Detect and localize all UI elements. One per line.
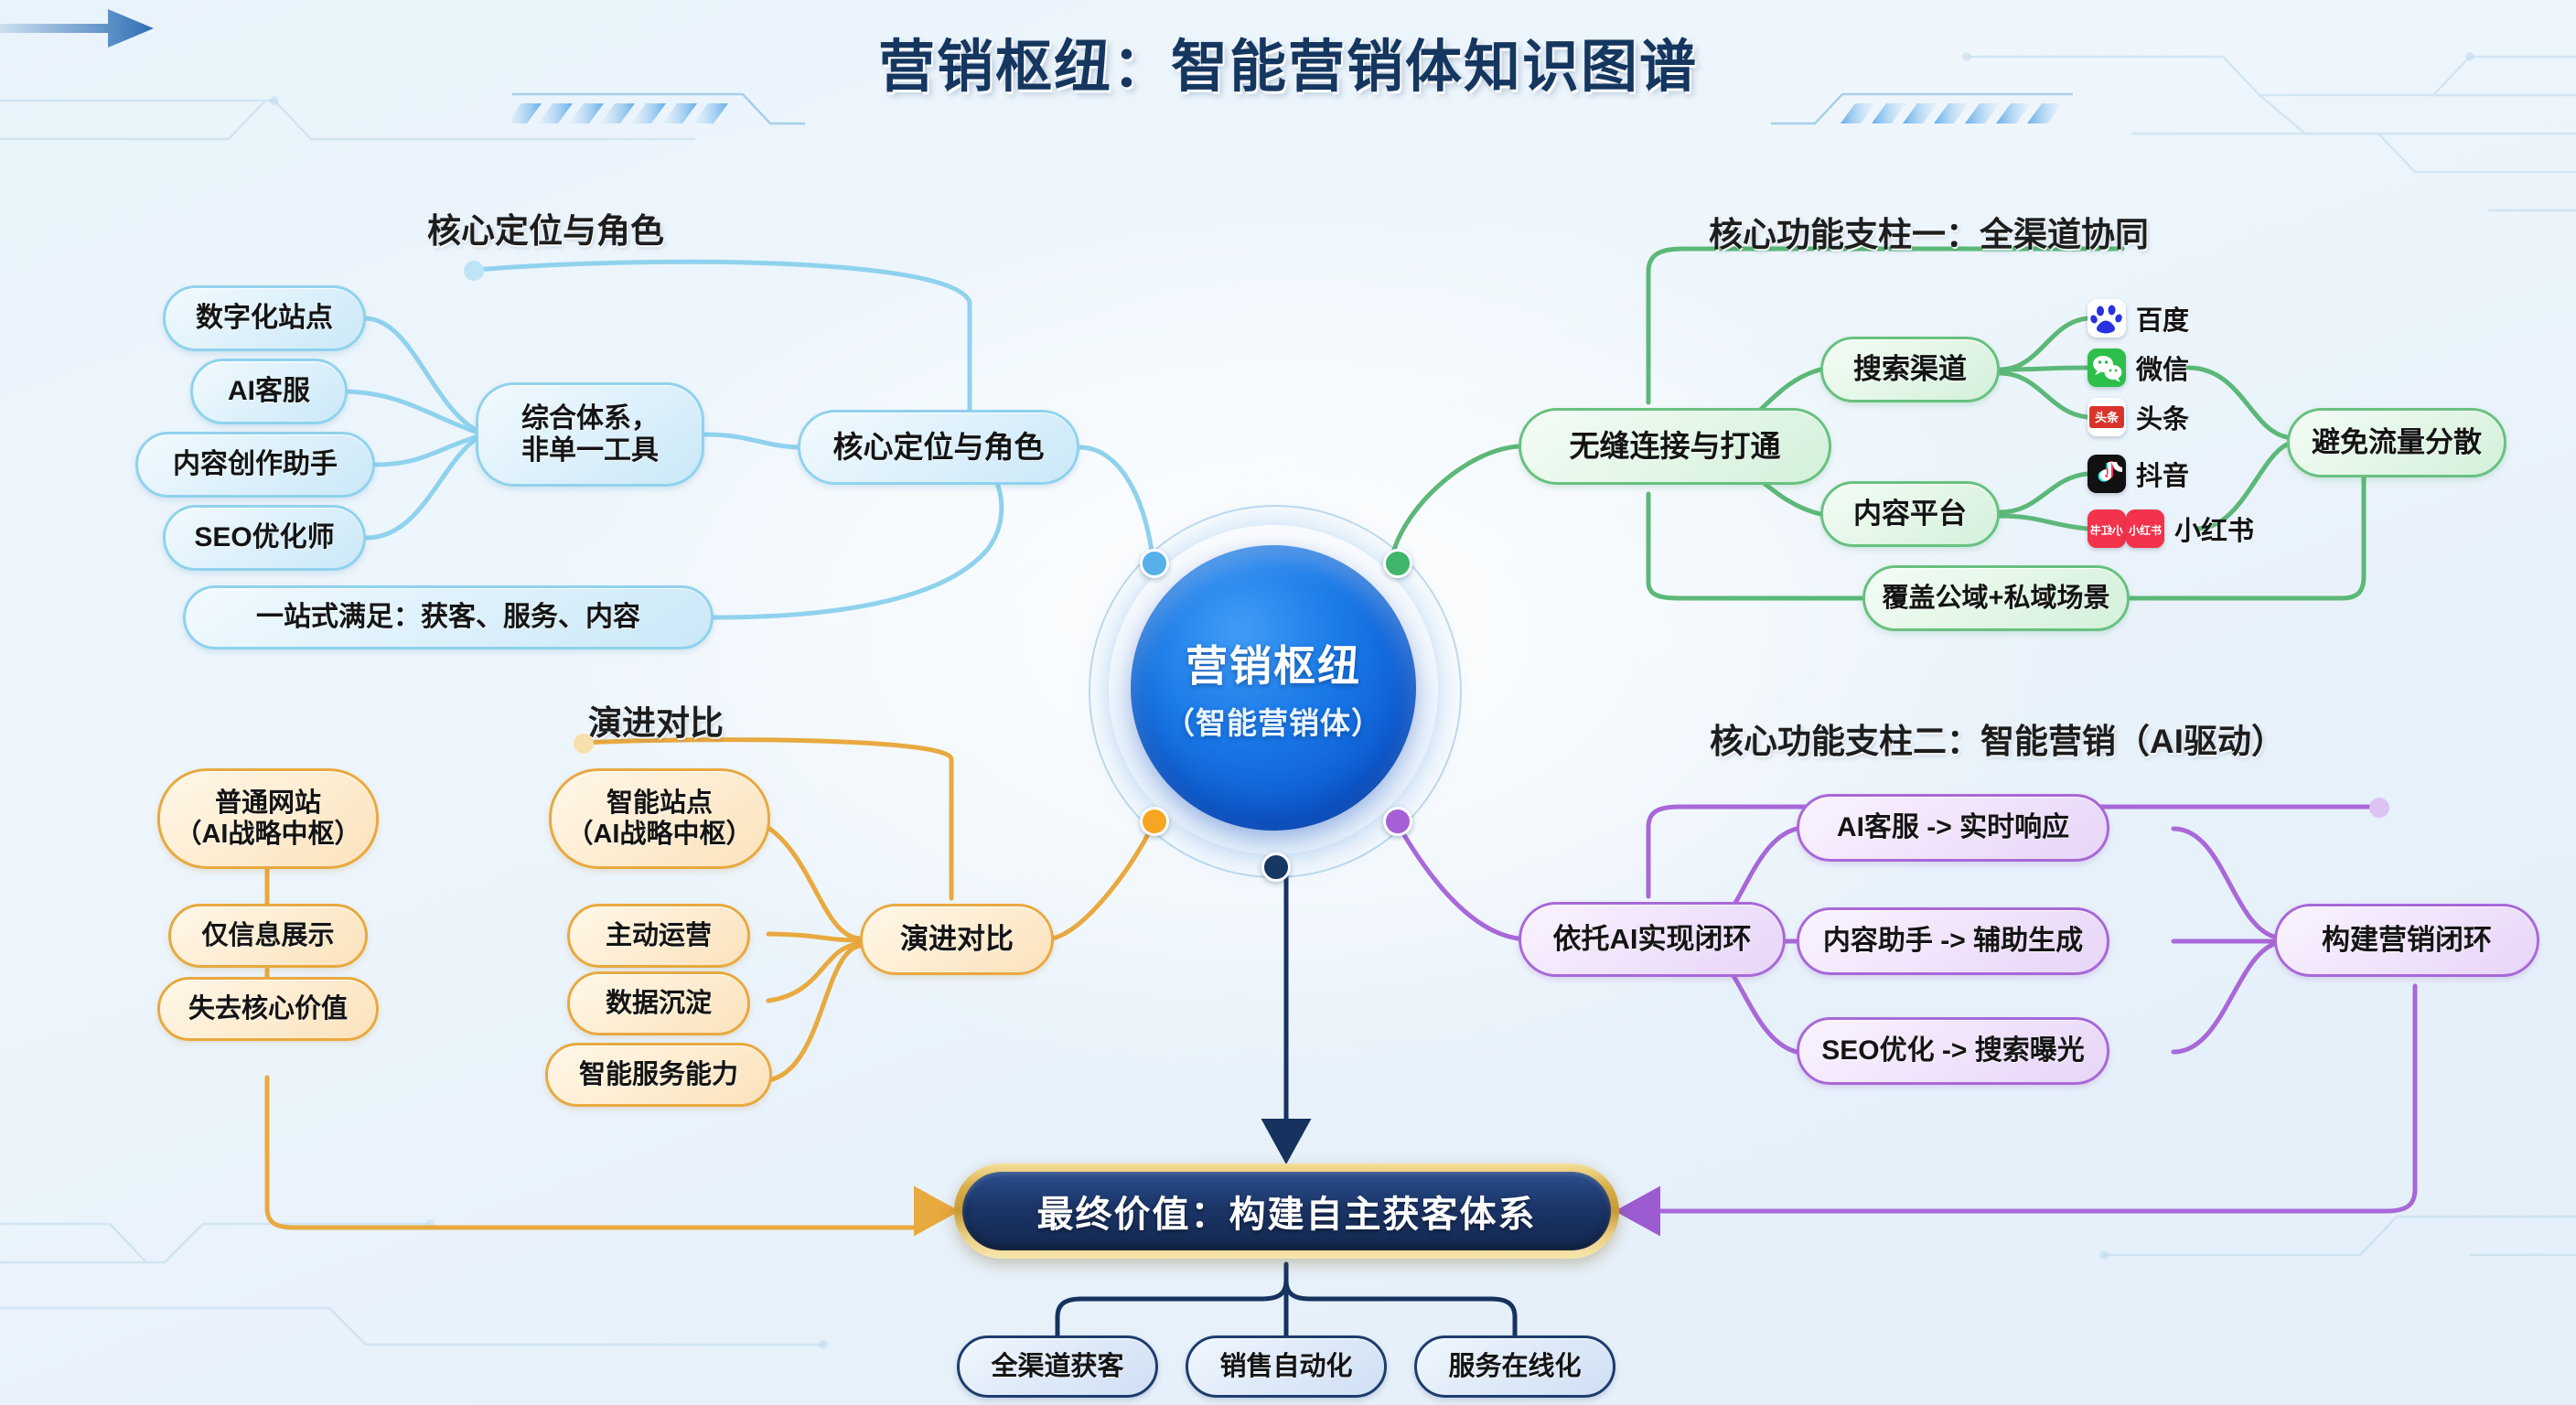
node-pillar-two-item-0[interactable]: AI客服 -> 实时响应: [1797, 794, 2109, 862]
platform-label-wechat: 微信: [2136, 349, 2189, 387]
center-sphere[interactable]: 营销枢纽 （智能营销体）: [1131, 545, 1416, 831]
section-header-positioning: 核心定位与角色: [427, 203, 664, 252]
node-positioning-leaf-2[interactable]: 内容创作助手: [135, 432, 375, 498]
center-title: 营销枢纽: [1186, 633, 1361, 693]
section-header-pillar-two: 核心功能支柱二：智能营销（AI驱动）: [1710, 713, 2285, 763]
platform-row-baidu[interactable]: 百度: [2088, 299, 2189, 338]
xiaohongshu-icon: 小红书: [2126, 509, 2164, 548]
final-value-banner-label: 最终价值：构建自主获客体系: [1037, 1185, 1537, 1238]
node-evolution-after-item-0[interactable]: 主动运营: [567, 904, 750, 968]
page-title-wrap: 营销枢纽：智能营销体知识图谱: [0, 20, 2576, 102]
knowledge-graph-canvas: 营销枢纽：智能营销体知识图谱: [0, 0, 2576, 1405]
node-evolution-before-title[interactable]: 普通网站 （AI战略中枢）: [157, 768, 379, 869]
node-evolution-before-item-1[interactable]: 失去核心价值: [157, 977, 379, 1041]
node-pillar-two-item-2[interactable]: SEO优化 -> 搜索曝光: [1797, 1017, 2109, 1085]
xiaohongshu-icon-pair: 小红书 小红书: [2088, 509, 2164, 548]
node-positioning-onestop[interactable]: 一站式满足：获客、服务、内容: [183, 585, 714, 649]
platform-row-toutiao[interactable]: 头条 头条: [2088, 398, 2189, 436]
node-final-item-2[interactable]: 服务在线化: [1414, 1335, 1615, 1398]
node-evolution-after-title[interactable]: 智能站点 （AI战略中枢）: [549, 768, 770, 869]
section-header-pillar-one: 核心功能支柱一：全渠道协同: [1709, 207, 2149, 256]
svg-text:小红书: 小红书: [2090, 523, 2123, 537]
node-evolution-after-item-1[interactable]: 数据沉淀: [567, 971, 750, 1035]
section-header-evolution: 演进对比: [588, 695, 724, 745]
node-final-item-1[interactable]: 销售自动化: [1186, 1335, 1387, 1398]
node-evolution-before-item-0[interactable]: 仅信息展示: [168, 904, 368, 968]
center-subtitle: （智能营销体）: [1165, 699, 1382, 743]
node-positioning-hub[interactable]: 核心定位与角色: [798, 410, 1079, 485]
node-pillar-one-branch-1[interactable]: 内容平台: [1820, 481, 2000, 547]
platform-label-toutiao: 头条: [2136, 398, 2189, 436]
node-final-item-0[interactable]: 全渠道获客: [957, 1335, 1158, 1398]
final-value-banner[interactable]: 最终价值：构建自主获客体系: [954, 1164, 1619, 1259]
node-positioning-leaf-3[interactable]: SEO优化师: [163, 505, 366, 571]
platform-label-baidu: 百度: [2136, 299, 2189, 338]
node-pillar-two-item-1[interactable]: 内容助手 -> 辅助生成: [1797, 907, 2109, 975]
node-pillar-one-branch-0[interactable]: 搜索渠道: [1820, 337, 2000, 402]
node-pillar-one-hub[interactable]: 无缝连接与打通: [1519, 408, 1831, 485]
node-pillar-two-hub[interactable]: 依托AI实现闭环: [1519, 902, 1786, 977]
platform-row-douyin[interactable]: 抖音: [2088, 455, 2189, 493]
platform-row-wechat[interactable]: 微信: [2088, 349, 2189, 387]
node-pillar-two-outcome[interactable]: 构建营销闭环: [2274, 904, 2539, 977]
node-evolution-hub[interactable]: 演进对比: [860, 904, 1054, 975]
wechat-icon: [2088, 349, 2126, 387]
baidu-icon: [2088, 299, 2126, 338]
final-value-banner-inner: 最终价值：构建自主获客体系: [962, 1172, 1611, 1250]
connector-dot-orange: [1140, 807, 1169, 836]
svg-text:小红书: 小红书: [2129, 523, 2162, 537]
node-positioning-mid[interactable]: 综合体系， 非单一工具: [476, 382, 704, 487]
connector-dot-navy: [1261, 853, 1291, 882]
node-pillar-one-coverage[interactable]: 覆盖公域+私域场景: [1862, 565, 2130, 631]
platform-label-xiaohongshu: 小红书: [2174, 509, 2254, 548]
platform-label-douyin: 抖音: [2136, 455, 2189, 493]
douyin-icon: [2088, 455, 2126, 493]
node-pillar-one-outcome[interactable]: 避免流量分散: [2287, 408, 2506, 477]
svg-text:头条: 头条: [2095, 411, 2120, 425]
platform-row-xiaohongshu[interactable]: 小红书 小红书 小红书: [2088, 509, 2254, 548]
connector-dot-purple: [1383, 807, 1412, 836]
center-hub[interactable]: 营销枢纽 （智能营销体）: [1089, 505, 1458, 874]
page-title: 营销枢纽：智能营销体知识图谱: [878, 20, 1698, 102]
node-positioning-leaf-0[interactable]: 数字化站点: [163, 285, 366, 351]
xiaohongshu-icon-back: 小红书: [2088, 509, 2126, 548]
connector-dot-green: [1383, 549, 1412, 578]
node-positioning-leaf-1[interactable]: AI客服: [190, 359, 348, 424]
node-evolution-after-item-2[interactable]: 智能服务能力: [545, 1043, 772, 1107]
connector-dot-blue: [1140, 549, 1169, 578]
toutiao-icon: 头条: [2088, 398, 2126, 436]
